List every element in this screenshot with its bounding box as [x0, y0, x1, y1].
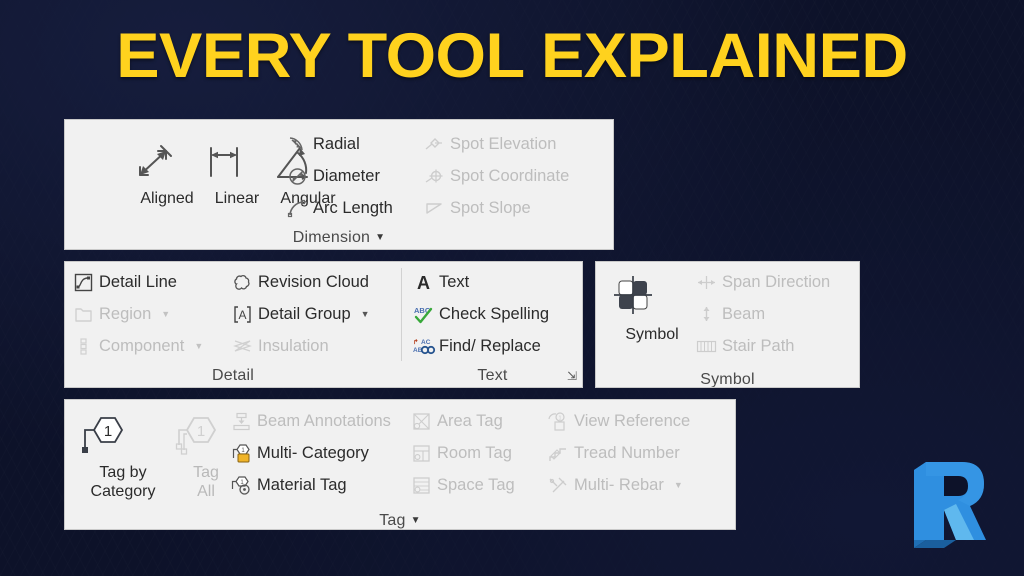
ribbon-button-label: Beam: [722, 304, 765, 324]
radial-dimension-icon: [287, 134, 307, 154]
insulation-icon: [232, 336, 252, 356]
region-icon: [73, 304, 93, 324]
ribbon-button-spot-slope[interactable]: Spot Slope: [424, 198, 531, 218]
ribbon-button-label: Insulation: [258, 336, 329, 356]
area-tag-icon: [411, 411, 431, 431]
panel-divider: [401, 268, 402, 361]
ribbon-button-room-tag[interactable]: Room Tag: [411, 443, 512, 463]
find-replace-icon: ↱ AC AB: [413, 336, 433, 356]
ribbon-button-label: Arc Length: [313, 198, 393, 218]
svg-text:A: A: [238, 308, 246, 322]
component-icon: [73, 336, 93, 356]
ribbon-panel-dimension: Aligned Linear: [64, 119, 614, 250]
ribbon-button-detail-group[interactable]: A Detail Group ▼: [232, 304, 370, 324]
chevron-down-icon[interactable]: ▼: [161, 304, 170, 324]
ribbon-button-beam-annotations[interactable]: Beam Annotations: [231, 411, 391, 431]
ribbon-button-space-tag[interactable]: Space Tag: [411, 475, 515, 495]
diameter-icon: [287, 166, 307, 186]
ribbon-button-insulation[interactable]: Insulation: [232, 336, 329, 356]
panel-label-dimension: Dimension▼: [65, 229, 613, 247]
page-title: EVERY TOOL EXPLAINED: [0, 18, 1024, 94]
ribbon-button-find-replace[interactable]: ↱ AC AB Find/ Replace: [413, 336, 541, 356]
ribbon-button-text[interactable]: A Text: [413, 272, 469, 292]
spot-coordinate-icon: [424, 166, 444, 186]
ribbon-panel-detail-text: Detail Line Region ▼ Component ▼ Revisi: [64, 261, 583, 388]
ribbon-button-label: Spot Elevation: [450, 134, 556, 154]
ribbon-button-label: Spot Slope: [450, 198, 531, 218]
beam-annotations-icon: [231, 411, 251, 431]
ribbon-button-label: View Reference: [574, 411, 690, 431]
ribbon-button-label: Linear: [215, 190, 259, 207]
beam-icon: [696, 304, 716, 324]
chevron-down-icon[interactable]: ▼: [361, 304, 370, 324]
ribbon-button-check-spelling[interactable]: ABC Check Spelling: [413, 304, 549, 324]
ribbon-button-label-line2: All: [197, 483, 215, 500]
ribbon-button-label: Room Tag: [437, 443, 512, 463]
chevron-down-icon[interactable]: ▼: [411, 515, 421, 526]
tag-by-category-icon: 1: [77, 414, 169, 460]
ribbon-button-material-tag[interactable]: 1 Material Tag: [231, 475, 347, 495]
stair-path-icon: [696, 336, 716, 356]
view-reference-icon: 1: [548, 411, 568, 431]
ribbon-button-diameter[interactable]: Diameter: [287, 166, 380, 186]
ribbon-button-label: Aligned: [140, 190, 193, 207]
space-tag-icon: [411, 475, 431, 495]
ribbon-button-label: Span Direction: [722, 272, 830, 292]
ribbon-button-label: Region: [99, 304, 151, 324]
ribbon-button-label-line1: Tag by: [99, 464, 146, 481]
ribbon-button-label: Area Tag: [437, 411, 503, 431]
ribbon-button-spot-elevation[interactable]: Spot Elevation: [424, 134, 556, 154]
check-spelling-icon: ABC: [413, 304, 433, 324]
ribbon-button-label: Diameter: [313, 166, 380, 186]
ribbon-button-aligned[interactable]: Aligned: [131, 142, 203, 208]
ribbon-button-label: Find/ Replace: [439, 336, 541, 356]
ribbon-button-tag-by-category[interactable]: 1 Tag by Category: [77, 414, 169, 501]
tread-number-icon: [548, 443, 568, 463]
ribbon-button-label-line1: Tag: [193, 464, 219, 481]
svg-text:1: 1: [197, 423, 205, 440]
ribbon-button-label: Stair Path: [722, 336, 794, 356]
ribbon-button-label: Check Spelling: [439, 304, 549, 324]
ribbon-button-region[interactable]: Region ▼: [73, 304, 170, 324]
ribbon-panel-tag: 1 Tag by Category 1 Tag All: [64, 399, 736, 530]
ribbon-button-label: Beam Annotations: [257, 411, 391, 431]
spot-slope-icon: [424, 198, 444, 218]
ribbon-button-label: Revision Cloud: [258, 272, 369, 292]
ribbon-button-label: Text: [439, 272, 469, 292]
ribbon-button-beam[interactable]: Beam: [696, 304, 765, 324]
ribbon-panel-symbol: Symbol Span Direction Beam: [595, 261, 860, 388]
ribbon-button-view-reference[interactable]: 1 View Reference: [548, 411, 690, 431]
ribbon-button-area-tag[interactable]: Area Tag: [411, 411, 503, 431]
detail-group-icon: A: [232, 304, 252, 324]
svg-text:↱: ↱: [413, 338, 418, 346]
ribbon-button-span-direction[interactable]: Span Direction: [696, 272, 830, 292]
ribbon-button-linear[interactable]: Linear: [202, 142, 272, 208]
symbol-icon: [608, 276, 696, 322]
detail-line-icon: [73, 272, 93, 292]
ribbon-button-spot-coordinate[interactable]: Spot Coordinate: [424, 166, 569, 186]
multi-category-icon: 1: [231, 443, 251, 463]
span-direction-icon: [696, 272, 716, 292]
linear-dimension-icon: [202, 142, 272, 186]
ribbon-button-label: Spot Coordinate: [450, 166, 569, 186]
panel-label-tag: Tag▼: [65, 512, 735, 530]
chevron-down-icon[interactable]: ▼: [375, 232, 385, 243]
aligned-dimension-icon: [131, 142, 203, 186]
svg-text:1: 1: [558, 415, 561, 421]
text-icon: A: [413, 272, 433, 292]
ribbon-button-revision-cloud[interactable]: Revision Cloud: [232, 272, 369, 292]
ribbon-button-label-line2: Category: [91, 483, 156, 500]
chevron-down-icon[interactable]: ▼: [674, 475, 683, 495]
panel-label-symbol: Symbol: [596, 369, 859, 388]
panel-label-text: Text: [401, 367, 583, 385]
arc-length-icon: [287, 198, 307, 218]
svg-text:A: A: [417, 273, 430, 293]
svg-text:AC: AC: [421, 339, 431, 346]
ribbon-button-symbol[interactable]: Symbol: [608, 276, 696, 344]
panel-expand-arrow[interactable]: ⇲: [567, 369, 577, 383]
ribbon-button-stair-path[interactable]: Stair Path: [696, 336, 794, 356]
svg-text:1: 1: [104, 423, 112, 440]
multi-rebar-icon: [548, 475, 568, 495]
spot-elevation-icon: [424, 134, 444, 154]
panel-label-detail: Detail: [65, 367, 401, 385]
material-tag-icon: 1: [231, 475, 251, 495]
ribbon-button-multi-category[interactable]: 1 Multi- Category: [231, 443, 369, 463]
ribbon-button-label: Tread Number: [574, 443, 680, 463]
ribbon-button-label: Multi- Category: [257, 443, 369, 463]
ribbon-button-label: Symbol: [625, 326, 678, 343]
ribbon-button-label: Space Tag: [437, 475, 515, 495]
ribbon-button-label: Detail Line: [99, 272, 177, 292]
chevron-down-icon[interactable]: ▼: [194, 336, 203, 356]
ribbon-button-label: Multi- Rebar: [574, 475, 664, 495]
ribbon-button-label: Radial: [313, 134, 360, 154]
ribbon-button-arc-length[interactable]: Arc Length: [287, 198, 393, 218]
room-tag-icon: [411, 443, 431, 463]
revit-logo: [900, 448, 996, 552]
ribbon-button-radial[interactable]: Radial: [287, 134, 360, 154]
ribbon-button-tread-number[interactable]: Tread Number: [548, 443, 680, 463]
ribbon-button-label: Detail Group: [258, 304, 351, 324]
ribbon-button-detail-line[interactable]: Detail Line: [73, 272, 177, 292]
ribbon-button-label: Material Tag: [257, 475, 347, 495]
ribbon-button-component[interactable]: Component ▼: [73, 336, 203, 356]
ribbon-button-multi-rebar[interactable]: Multi- Rebar ▼: [548, 475, 683, 495]
revision-cloud-icon: [232, 272, 252, 292]
ribbon-button-label: Component: [99, 336, 184, 356]
